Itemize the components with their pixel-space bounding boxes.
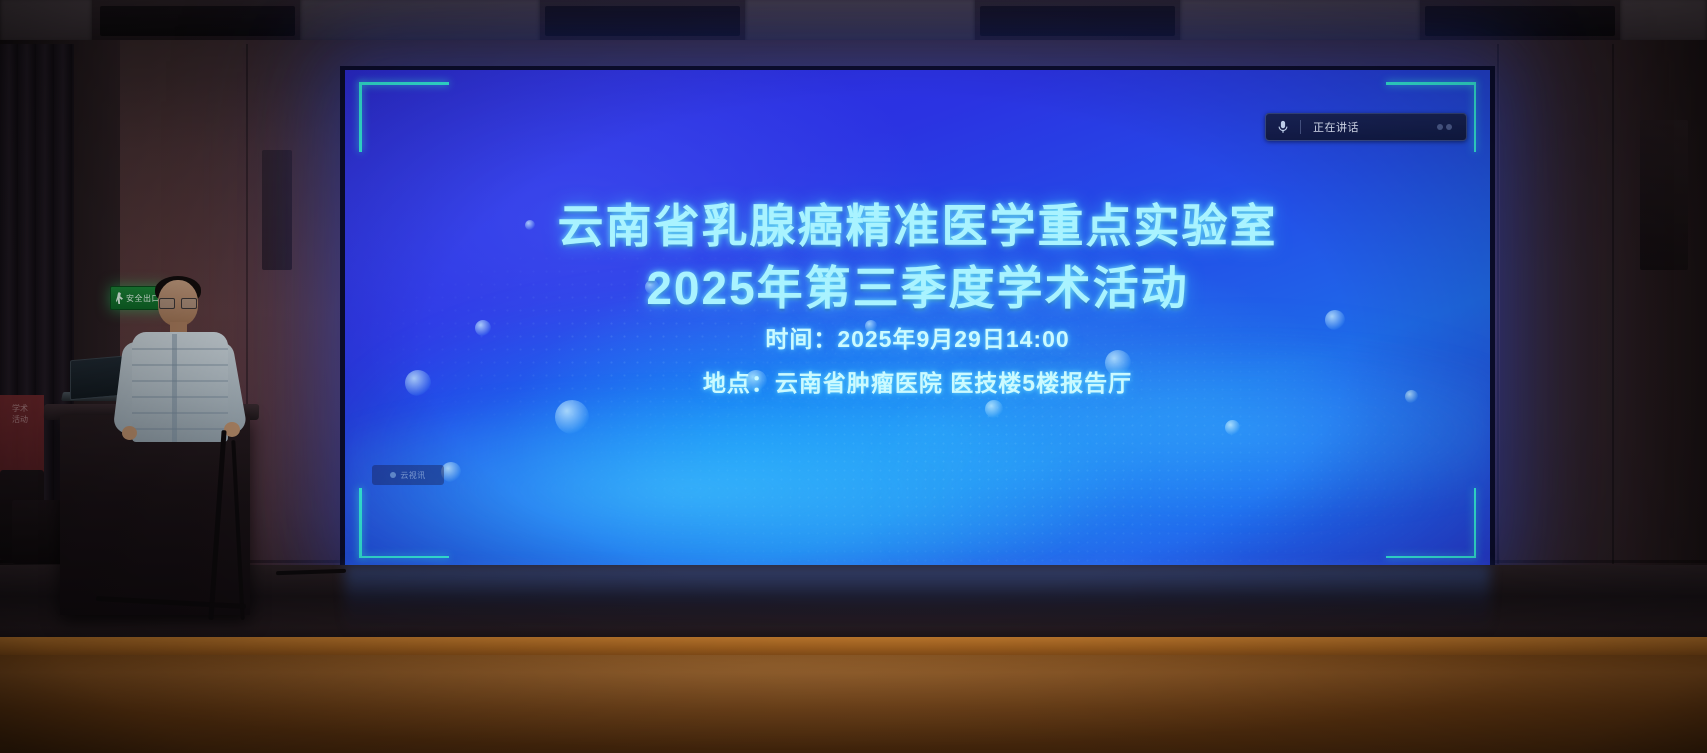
running-man-icon bbox=[116, 292, 123, 304]
stage-reflection bbox=[345, 565, 1490, 635]
screen-text-block: 云南省乳腺癌精准医学重点实验室 2025年第三季度学术活动 时间：2025年9月… bbox=[345, 70, 1490, 570]
event-location: 地点：云南省肿瘤医院 医技楼5楼报告厅 bbox=[345, 364, 1490, 398]
ceiling-light-slot bbox=[980, 6, 1175, 36]
microphone-icon bbox=[1266, 115, 1300, 139]
glasses-icon bbox=[159, 298, 197, 308]
person-left-hand bbox=[122, 426, 137, 440]
screen-watermark: 云视讯 bbox=[372, 465, 444, 485]
badge-audio-meter bbox=[1422, 115, 1466, 139]
wall-panel bbox=[262, 150, 292, 270]
event-time: 时间：2025年9月29日14:00 bbox=[345, 320, 1490, 354]
ceiling-panel bbox=[1180, 0, 1420, 44]
led-screen: 云南省乳腺癌精准医学重点实验室 2025年第三季度学术活动 时间：2025年9月… bbox=[345, 70, 1490, 570]
ceiling-panel bbox=[300, 0, 540, 44]
wall-seam bbox=[1497, 44, 1499, 564]
person-shirt bbox=[132, 332, 228, 442]
ceiling-panel bbox=[0, 0, 92, 44]
ceiling-light-slot bbox=[100, 6, 295, 36]
left-banner-text: 学术活动 bbox=[12, 403, 28, 425]
watermark-label: 云视讯 bbox=[400, 470, 425, 481]
screenshot-root: 安全出口 bbox=[0, 0, 1707, 753]
event-title-line2: 2025年第三季度学术活动 bbox=[345, 252, 1490, 318]
wall-speaker-box bbox=[1640, 120, 1688, 270]
floor-highlight bbox=[0, 655, 1707, 753]
person-right-hand bbox=[224, 422, 240, 437]
wall-seam bbox=[1612, 44, 1614, 564]
ceiling-light-slot bbox=[545, 6, 740, 36]
chair bbox=[12, 500, 64, 564]
ceiling-panel bbox=[745, 0, 975, 44]
watermark-icon bbox=[390, 472, 396, 478]
person-shirt-placket bbox=[172, 334, 177, 442]
ceiling-light-slot bbox=[1425, 6, 1615, 36]
speaker-person bbox=[128, 280, 248, 470]
event-title-line1: 云南省乳腺癌精准医学重点实验室 bbox=[345, 190, 1490, 256]
speaking-status-label: 正在讲话 bbox=[1301, 119, 1422, 135]
speaking-status-badge[interactable]: 正在讲话 bbox=[1265, 113, 1467, 141]
ceiling-panel bbox=[1620, 0, 1707, 44]
